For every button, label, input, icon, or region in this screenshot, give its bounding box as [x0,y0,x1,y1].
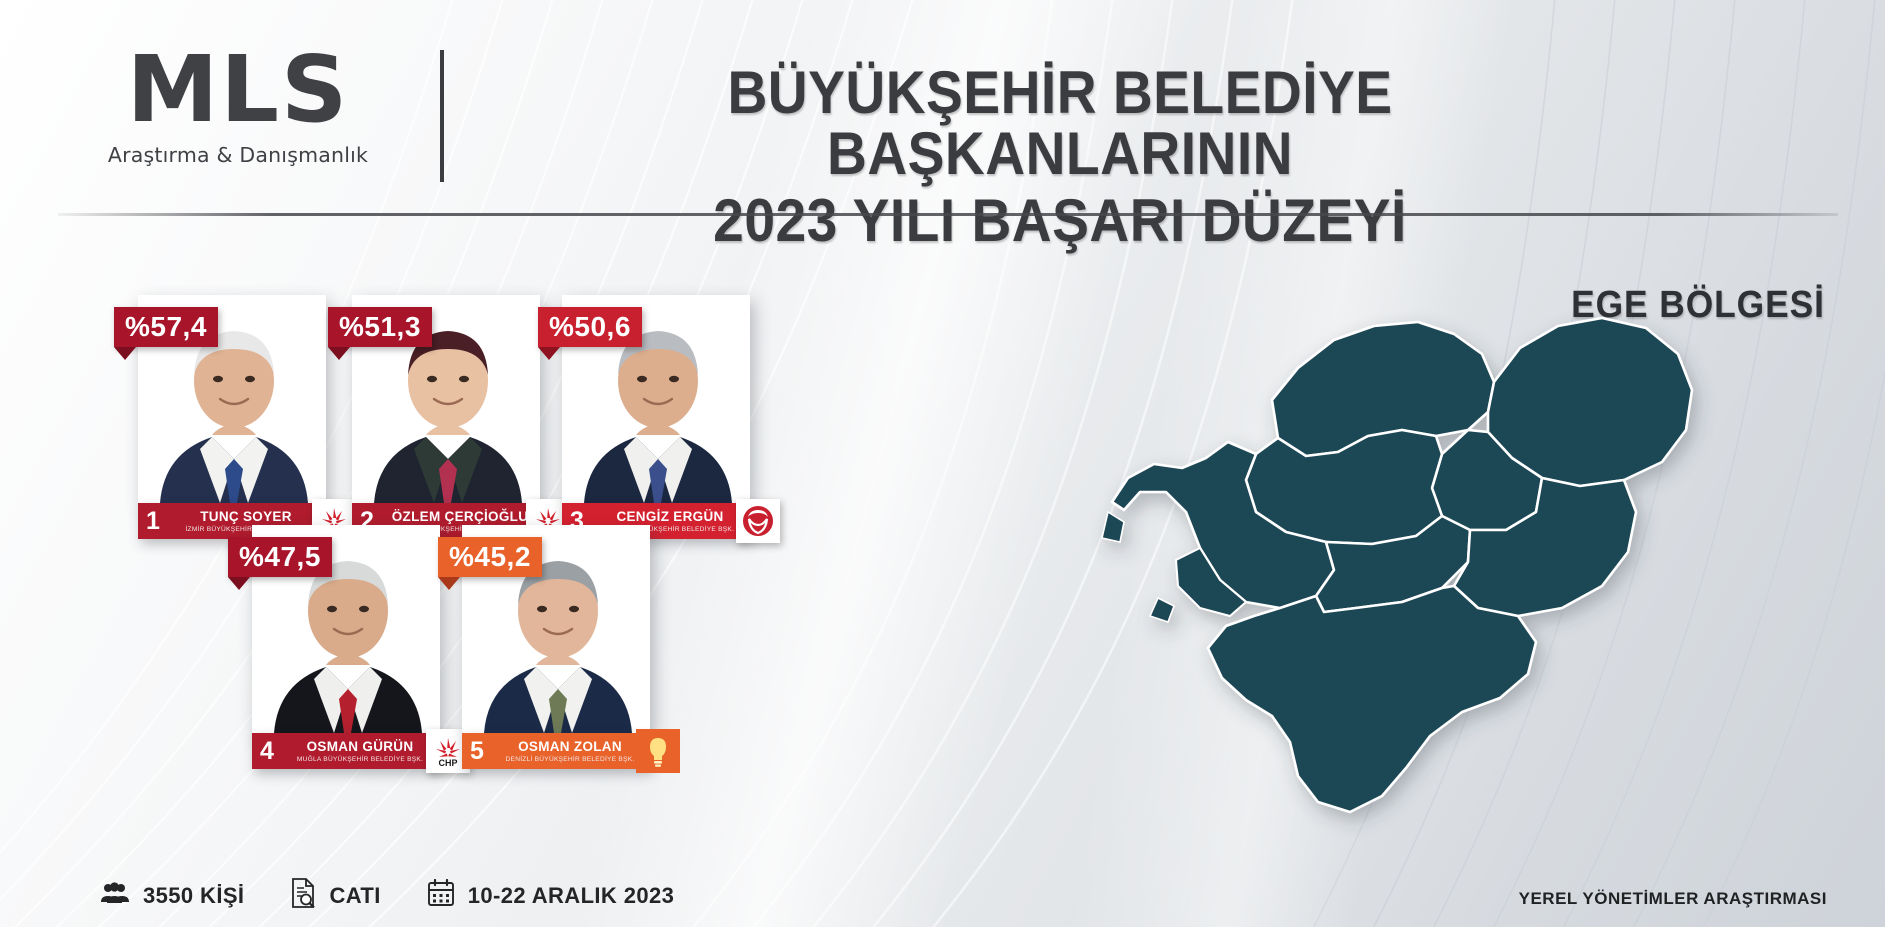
footer-method: CATI [290,878,380,913]
logo-wordmark: MLS [88,46,388,133]
document-search-icon [290,878,316,913]
footer-date-range: 10-22 ARALIK 2023 [427,879,675,912]
header: MLS Araştırma & Danışmanlık BÜYÜKŞEHİR B… [0,0,1885,215]
candidate-name-2: ÖZLEM ÇERÇİOĞLU [382,509,538,524]
candidate-name-1: TUNÇ SOYER [168,509,324,524]
map-island-detail [1102,512,1124,542]
party-logo-MHP [736,499,780,543]
percent-badge-1: %57,4 [114,307,218,347]
candidate-name-5: OSMAN ZOLAN [492,739,648,754]
title-line-1: BÜYÜKŞEHİR BELEDİYE BAŞKANLARININ [517,62,1603,184]
logo-tagline: Araştırma & Danışmanlık [88,143,388,167]
footer: 3550 KİŞİ CATI [0,855,1885,927]
sample-size-label: 3550 KİŞİ [143,883,244,909]
percent-badge-2: %51,3 [328,307,432,347]
percent-value-4: %47,5 [239,541,321,573]
candidate-card-4[interactable]: %47,5 4 OSMAN GÜRÜN MUĞLA BÜYÜKŞEHİR BEL… [252,525,440,769]
candidate-name-3: CENGİZ ERGÜN [592,509,748,524]
candidate-card-2[interactable]: %51,3 2 ÖZLEM ÇERÇİOĞLU AYDIN BÜYÜKŞEHİR… [352,295,540,539]
candidate-card-1[interactable]: %57,4 1 TUNÇ SOYER İZMİR BÜYÜKŞEHİR BELE… [138,295,326,539]
percent-value-1: %57,4 [125,311,207,343]
candidate-name-bar-4: 4 OSMAN GÜRÜN MUĞLA BÜYÜKŞEHİR BELEDİYE … [252,733,440,769]
percent-badge-5: %45,2 [438,537,542,577]
page-title: BÜYÜKŞEHİR BELEDİYE BAŞKANLARININ 2023 Y… [470,62,1650,252]
header-vertical-divider [440,50,444,182]
candidate-rank-4: 4 [252,739,282,764]
study-name-label: YEREL YÖNETİMLER ARAŞTIRMASI [1519,889,1827,909]
footer-meta-group: 3550 KİŞİ CATI [100,878,674,913]
candidate-card-3[interactable]: %50,6 3 CENGİZ ERGÜN MANİSA BÜYÜKŞEHİR B… [562,295,750,539]
map-island-detail-2 [1150,598,1174,622]
party-logo-AK PARTİ [636,729,680,773]
candidate-role-5: DENİZLİ BÜYÜKŞEHİR BELEDİYE BŞK. [492,756,648,763]
method-label: CATI [329,883,380,909]
people-icon [100,882,130,909]
percent-badge-4: %47,5 [228,537,332,577]
percent-value-3: %50,6 [549,311,631,343]
footer-sample-size: 3550 KİŞİ [100,882,244,909]
province-afyonkarahisar [1488,318,1692,486]
percent-value-5: %45,2 [449,541,531,573]
percent-value-2: %51,3 [339,311,421,343]
candidate-role-4: MUĞLA BÜYÜKŞEHİR BELEDİYE BŞK. [282,756,438,763]
candidate-rank-5: 5 [462,739,492,764]
percent-badge-3: %50,6 [538,307,642,347]
calendar-icon [427,879,455,912]
ege-region-map [1050,230,1850,870]
candidate-name-4: OSMAN GÜRÜN [282,739,438,754]
candidate-rank-1: 1 [138,509,168,534]
header-divider-rule [58,213,1838,216]
date-range-label: 10-22 ARALIK 2023 [468,883,675,909]
svg-text:CHP: CHP [438,758,457,768]
brand-logo: MLS Araştırma & Danışmanlık [88,46,388,167]
chp-logo-icon: CHP [430,733,466,769]
map-svg [1050,230,1850,870]
candidate-name-bar-5: 5 OSMAN ZOLAN DENİZLİ BÜYÜKŞEHİR BELEDİY… [462,733,650,769]
mhp-logo-icon [740,503,776,539]
candidate-card-5[interactable]: %45,2 5 OSMAN ZOLAN DENİZLİ BÜYÜKŞEHİR B… [462,525,650,769]
akparti-bulb-icon [640,733,676,769]
province-mugla [1208,586,1536,812]
